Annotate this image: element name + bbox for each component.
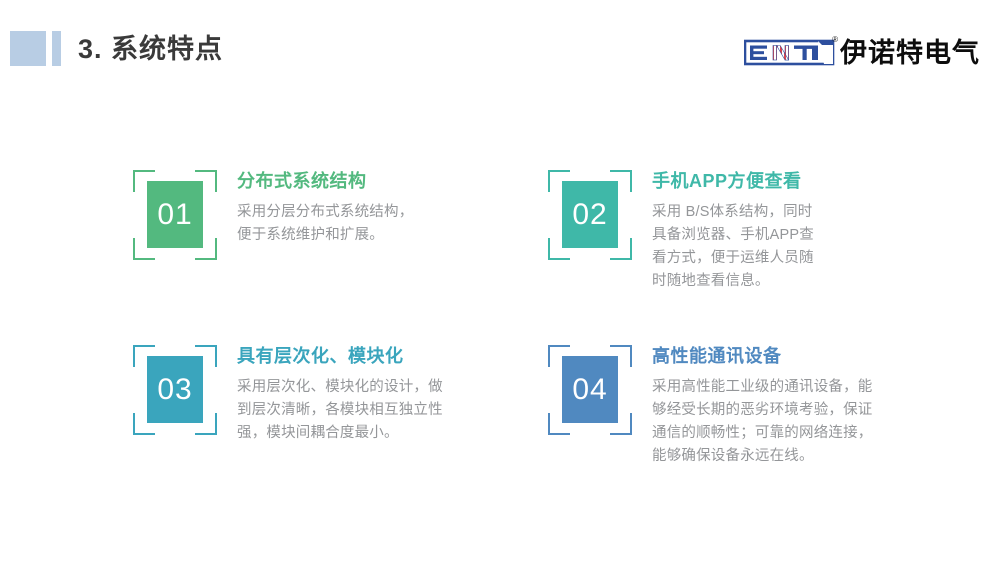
card-description: 采用高性能工业级的通讯设备，能够经受长期的恶劣环境考验，保证通信的顺畅性；可靠的… [652, 376, 874, 468]
number-badge: 03 [133, 345, 217, 435]
number-badge: 02 [548, 170, 632, 260]
badge-number: 04 [572, 375, 607, 405]
card-description: 采用层次化、模块化的设计，做到层次清晰，各模块相互独立性强，模块间耦合度最小。 [237, 376, 445, 445]
badge-number: 01 [157, 200, 192, 230]
ent-logo-icon: ® [744, 39, 836, 67]
card-description: 采用 B/S体系结构，同时具备浏览器、手机APP查看方式，便于运维人员随时随地查… [652, 201, 824, 293]
company-logo: ® 伊诺特电气 [744, 34, 980, 72]
card-title: 具有层次化、模块化 [237, 345, 445, 367]
badge-number: 03 [157, 375, 192, 405]
registered-trademark-icon: ® [832, 36, 838, 44]
card-body: 分布式系统结构 采用分层分布式系统结构，便于系统维护和扩展。 [237, 170, 417, 247]
page-title: 3. 系统特点 [78, 31, 223, 67]
badge-square: 04 [562, 356, 618, 423]
badge-square: 02 [562, 181, 618, 248]
slide-header: 3. 系统特点 [0, 0, 1000, 100]
badge-square: 03 [147, 356, 203, 423]
badge-number: 02 [572, 200, 607, 230]
number-badge: 04 [548, 345, 632, 435]
card-title: 分布式系统结构 [237, 170, 417, 192]
card-title: 高性能通讯设备 [652, 345, 874, 367]
badge-square: 01 [147, 181, 203, 248]
card-body: 具有层次化、模块化 采用层次化、模块化的设计，做到层次清晰，各模块相互独立性强，… [237, 345, 445, 445]
accent-bar-narrow [52, 31, 61, 66]
card-title: 手机APP方便查看 [652, 170, 824, 192]
card-description: 采用分层分布式系统结构，便于系统维护和扩展。 [237, 201, 417, 247]
company-name: 伊诺特电气 [840, 38, 980, 68]
card-body: 高性能通讯设备 采用高性能工业级的通讯设备，能够经受长期的恶劣环境考验，保证通信… [652, 345, 874, 468]
accent-bar-wide [10, 31, 46, 66]
card-body: 手机APP方便查看 采用 B/S体系结构，同时具备浏览器、手机APP查看方式，便… [652, 170, 824, 293]
number-badge: 01 [133, 170, 217, 260]
slide: 3. 系统特点 [0, 0, 1000, 563]
